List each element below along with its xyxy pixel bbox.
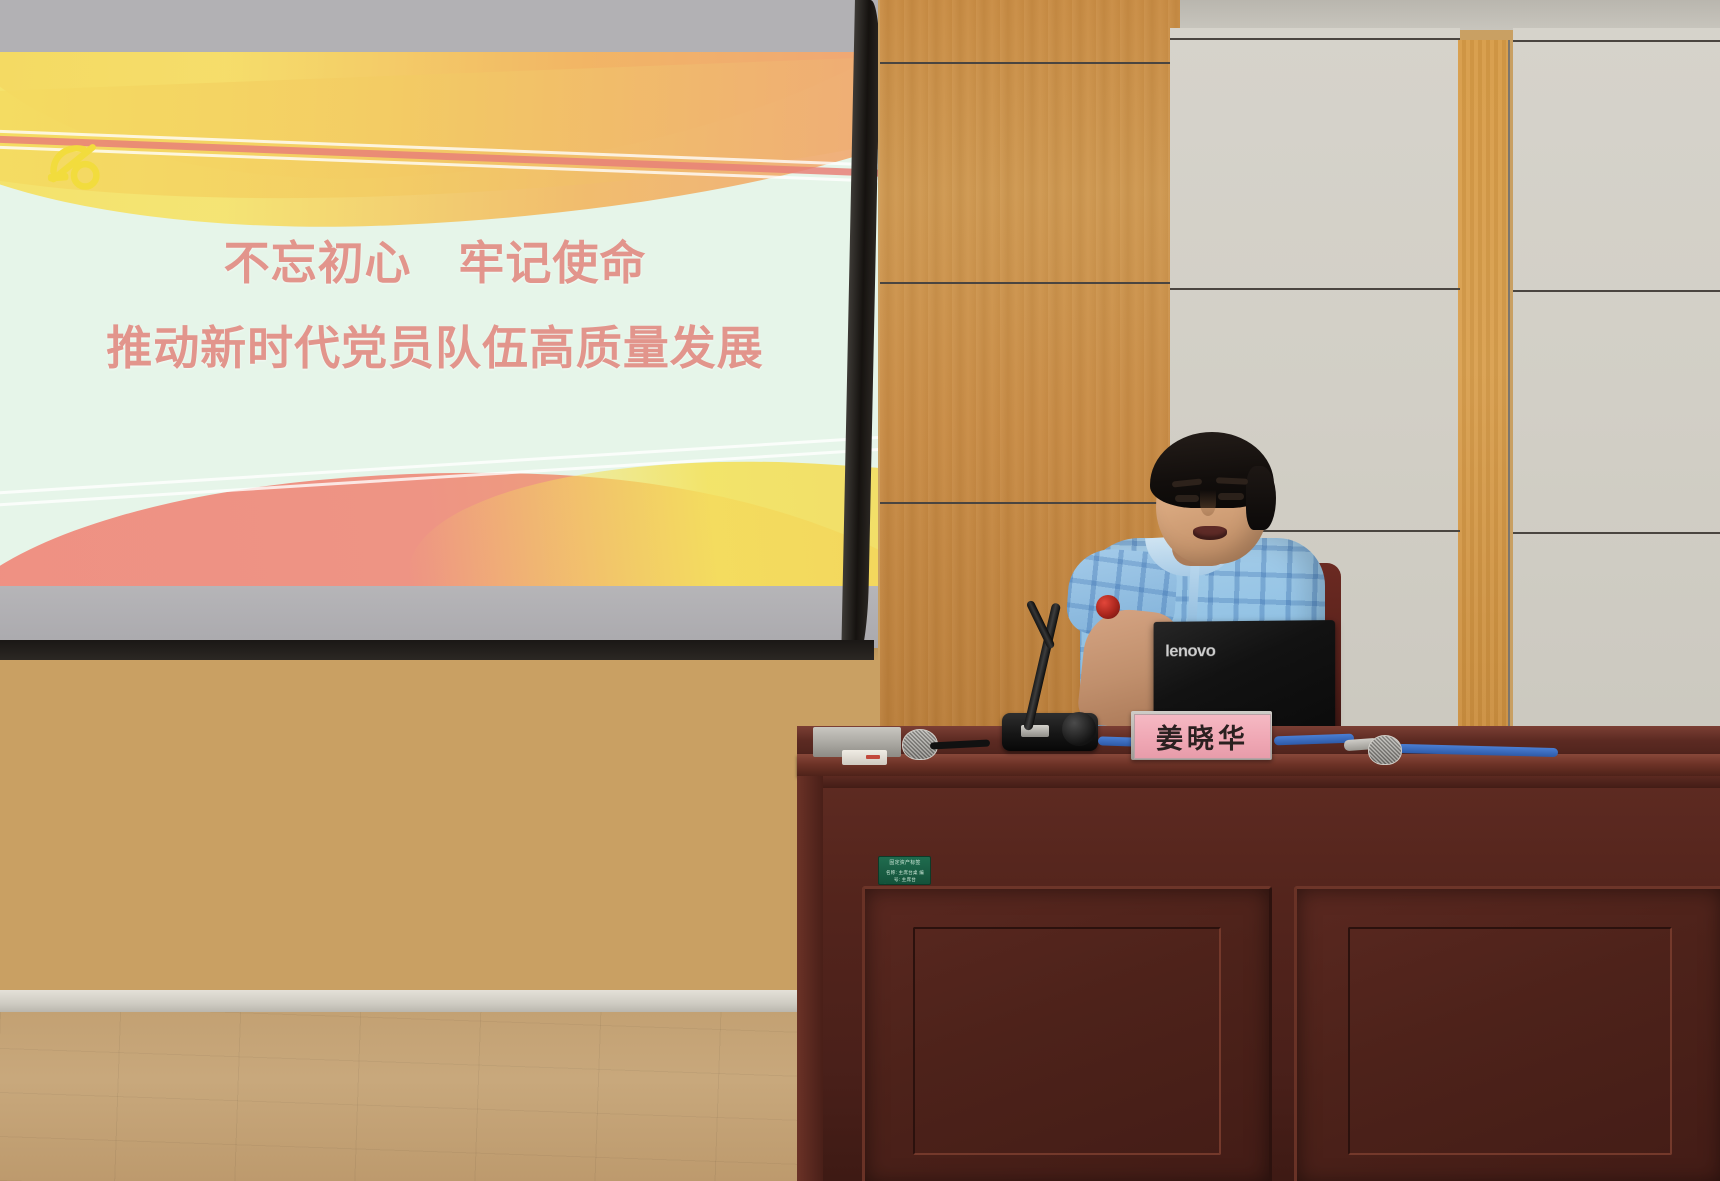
slide-content: 不忘初心 牢记使命 推动新时代党员队伍高质量发展 [0,52,878,592]
speaker-hair-side [1246,466,1276,530]
desk-panel-inner-bevel [913,927,1220,1154]
mesh-microphone-right [1368,735,1402,765]
podium-desk [797,726,1720,1181]
desk-left-edge [797,776,823,1181]
desk-panel-inner-bevel [1348,927,1672,1154]
name-placard-text: 姜晓华 [1156,717,1249,756]
presentation-room-photo: 不忘初心 牢记使命 推动新时代党员队伍高质量发展 [0,0,1720,1181]
asset-tag-label: 固定资产标签 名称: 主席台桌 编号: 主席台 部门: 办公室设备 价格: ¥—… [878,856,931,885]
wall-seam [1170,288,1460,290]
wall-seam [880,62,1180,64]
vertical-orange-wood-strip [1458,40,1510,773]
asset-tag-line-2: 部门: 办公室设备 价格: ¥—— [883,883,927,885]
asset-tag-line-1: 名称: 主席台桌 编号: 主席台 [883,869,927,883]
microphone-head [1096,595,1120,619]
screen-surface: 不忘初心 牢记使命 推动新时代党员队伍高质量发展 [0,0,878,648]
speaker-nose [1200,490,1216,516]
wall-seam [1513,40,1720,42]
floor [0,1012,830,1181]
name-placard: 姜晓华 [1131,711,1272,760]
wall-seam [1508,40,1510,773]
party-emblem-icon [44,138,104,194]
desk-raised-panel [862,886,1272,1181]
slide-yellow-ribbon-bottom [408,436,878,592]
cream-wall-panel [1513,28,1720,773]
microphone-base-knob[interactable] [1062,712,1096,746]
lenovo-logo: lenovo [1165,642,1215,661]
speaker-eye-right [1218,493,1244,500]
wall-seam [1513,290,1720,292]
speaker-eye-left [1175,495,1199,502]
speaker-mouth [1193,526,1227,540]
slide-bottom-gray-band [0,586,878,648]
wall-seam [880,282,1180,284]
slide-title-line-1: 不忘初心 牢记使命 [0,232,878,295]
name-placard-face: 姜晓华 [1134,714,1271,759]
screen-bottom-frame [0,640,874,660]
wall-seam [1170,38,1460,40]
wall-seam [1513,532,1720,534]
slide-title-line-2: 推动新时代党员队伍高质量发展 [0,317,878,380]
asset-tag-title: 固定资产标签 [883,860,927,868]
baseboard [0,990,830,1014]
white-dongle [842,750,887,765]
slide-title-block: 不忘初心 牢记使命 推动新时代党员队伍高质量发展 [0,232,878,381]
projection-screen: 不忘初心 牢记使命 推动新时代党员队伍高质量发展 [0,0,878,660]
desk-raised-panel [1294,886,1720,1181]
